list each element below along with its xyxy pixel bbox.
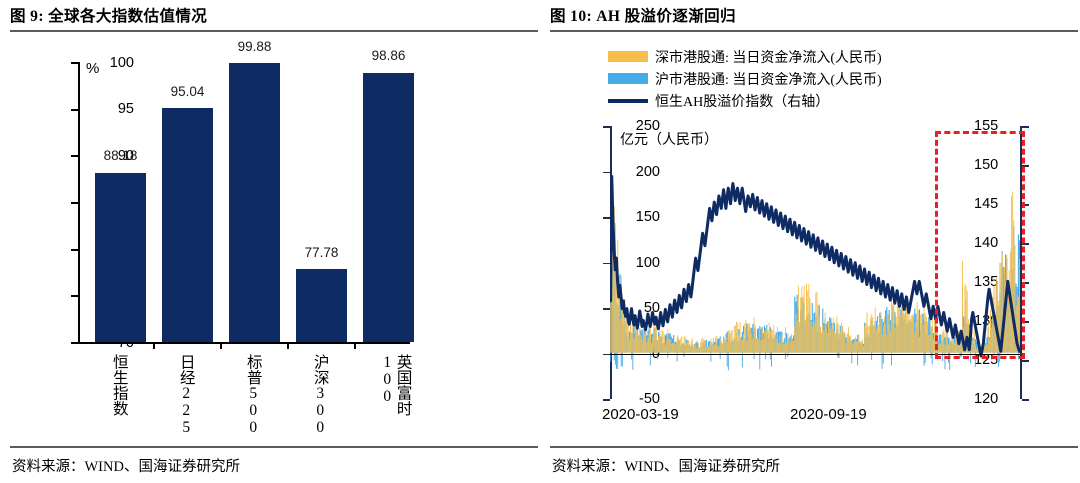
y-tick-80: [71, 249, 78, 251]
left-tick-50: [603, 308, 610, 310]
bar-value-nikkei-225: 95.04: [152, 84, 223, 99]
x-tick-1: [153, 342, 155, 349]
figure-10-top-rule: [550, 30, 1078, 32]
legend-swatch-orange: [608, 51, 648, 62]
category-label-hang-seng: 恒生指数: [111, 354, 127, 416]
legend-item-shenzhen[interactable]: 深市港股通: 当日资金净流入(人民币): [608, 46, 882, 67]
figure-10-combo-chart: 深市港股通: 当日资金净流入(人民币) 沪市港股通: 当日资金净流入(人民币) …: [550, 34, 1078, 438]
highlight-dashed-box: [935, 131, 1025, 359]
y-axis-line: [78, 62, 80, 343]
y-tick-100: [71, 62, 78, 64]
y-tick-70: [71, 342, 78, 344]
bar-sp-500[interactable]: [229, 63, 280, 342]
bar-value-sp-500: 99.88: [219, 39, 290, 54]
figure-9-bar-chart: % 100 95 90 85 80 75 70: [10, 34, 538, 438]
bar-value-csi-300: 77.78: [286, 245, 357, 260]
left-tick-200: [603, 172, 610, 174]
x-tick-label-mid: 2020-09-19: [790, 406, 867, 423]
y-tick-75: [71, 295, 78, 297]
y-tick-label-95: 95: [88, 101, 134, 117]
legend-label-ah-premium: 恒生AH股溢价指数（右轴）: [655, 91, 829, 111]
x-tick-4: [354, 342, 356, 349]
right-tick-125: [1022, 360, 1029, 362]
category-label-sp-500: 标普500: [245, 354, 261, 436]
x-tick-3: [287, 342, 289, 349]
figure-9-source: 资料来源：WIND、国海证券研究所: [12, 455, 240, 476]
y-tick-85: [71, 202, 78, 204]
legend-label-shanghai: 沪市港股通: 当日资金净流入(人民币): [655, 69, 882, 89]
bar-hang-seng[interactable]: [95, 173, 146, 343]
left-tick-150: [603, 217, 610, 219]
figure-9-title: 图 9: 全球各大指数估值情况: [10, 4, 538, 32]
x-tick-2: [220, 342, 222, 349]
legend-item-shanghai[interactable]: 沪市港股通: 当日资金净流入(人民币): [608, 68, 882, 89]
y-tick-95: [71, 109, 78, 111]
bar-value-hang-seng: 88.18: [85, 148, 156, 163]
legend-item-ah-premium[interactable]: 恒生AH股溢价指数（右轴）: [608, 90, 882, 111]
figure-9-top-rule: [10, 30, 538, 32]
figure-10-source: 资料来源：WIND、国海证券研究所: [552, 455, 780, 476]
figure-10-title: 图 10: AH 股溢价逐渐回归: [550, 4, 1078, 32]
right-tick-120: [1022, 399, 1029, 401]
figure-9-panel: 图 9: 全球各大指数估值情况 % 100 95 90 85 80 75 70: [10, 0, 538, 483]
left-tick-100: [603, 263, 610, 265]
figure-10-panel: 图 10: AH 股溢价逐渐回归 深市港股通: 当日资金净流入(人民币) 沪市港…: [550, 0, 1078, 483]
figure-9-bottom-rule: [10, 446, 538, 448]
category-label-ftse-100: 英国富时100: [379, 354, 411, 438]
left-tick-250: [603, 126, 610, 128]
legend-swatch-blue: [608, 73, 648, 84]
bar-csi-300[interactable]: [296, 269, 347, 342]
bar-ftse-100[interactable]: [363, 73, 414, 342]
legend-label-shenzhen: 深市港股通: 当日资金净流入(人民币): [655, 47, 882, 67]
x-tick-label-start: 2020-03-19: [602, 406, 679, 423]
right-tick-155: [1022, 126, 1029, 128]
y-tick-label-100: 100: [88, 55, 134, 71]
bar-value-ftse-100: 98.86: [353, 48, 424, 63]
left-tick-0: [603, 354, 610, 356]
legend-line-navy: [608, 99, 648, 103]
figure-page: 图 9: 全球各大指数估值情况 % 100 95 90 85 80 75 70: [0, 0, 1080, 483]
left-tick-neg50: [603, 399, 610, 401]
bar-nikkei-225[interactable]: [162, 108, 213, 342]
legend: 深市港股通: 当日资金净流入(人民币) 沪市港股通: 当日资金净流入(人民币) …: [608, 46, 882, 112]
category-label-csi-300: 沪深300: [312, 354, 328, 436]
y-tick-90: [71, 155, 78, 157]
figure-10-bottom-rule: [550, 446, 1078, 448]
category-label-nikkei-225: 日经225: [178, 354, 194, 436]
